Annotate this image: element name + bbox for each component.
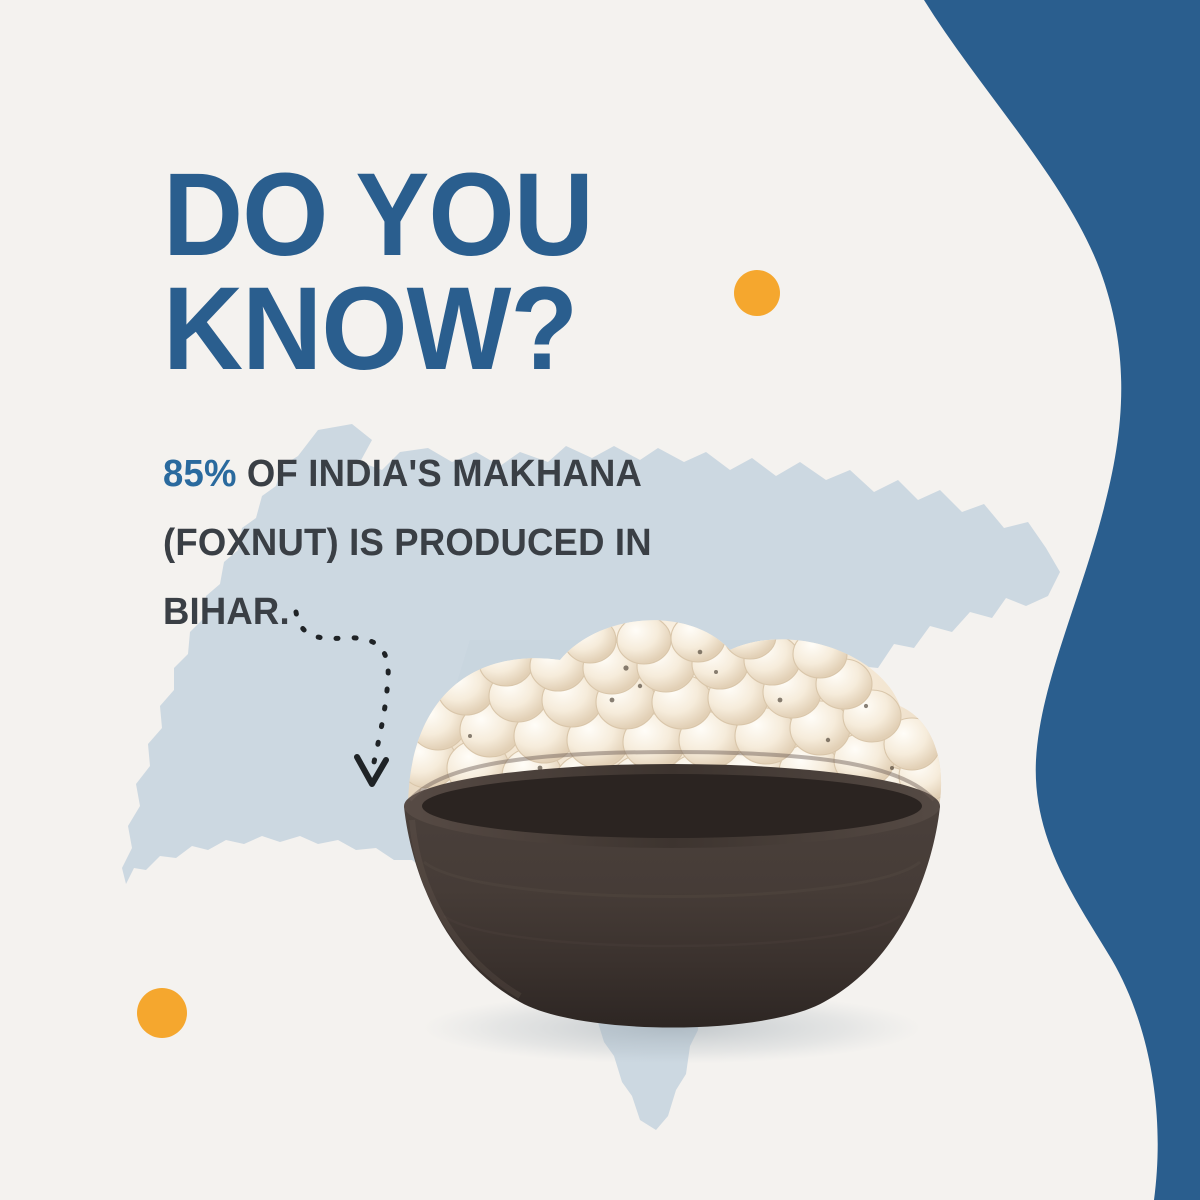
orange-dot-bottom-left <box>137 988 187 1038</box>
orange-dot-right <box>1085 877 1131 923</box>
body-copy-rest: OF INDIA'S MAKHANA (FOXNUT) IS PRODUCED … <box>163 453 652 633</box>
page-title: DO YOU KNOW? <box>163 158 746 387</box>
infographic-poster: DO YOU KNOW? 85% OF INDIA'S MAKHANA (FOX… <box>0 0 1200 1200</box>
body-copy: 85% OF INDIA'S MAKHANA (FOXNUT) IS PRODU… <box>163 440 777 647</box>
stat-highlight: 85% <box>163 453 237 495</box>
clay-bowl <box>404 752 940 1028</box>
